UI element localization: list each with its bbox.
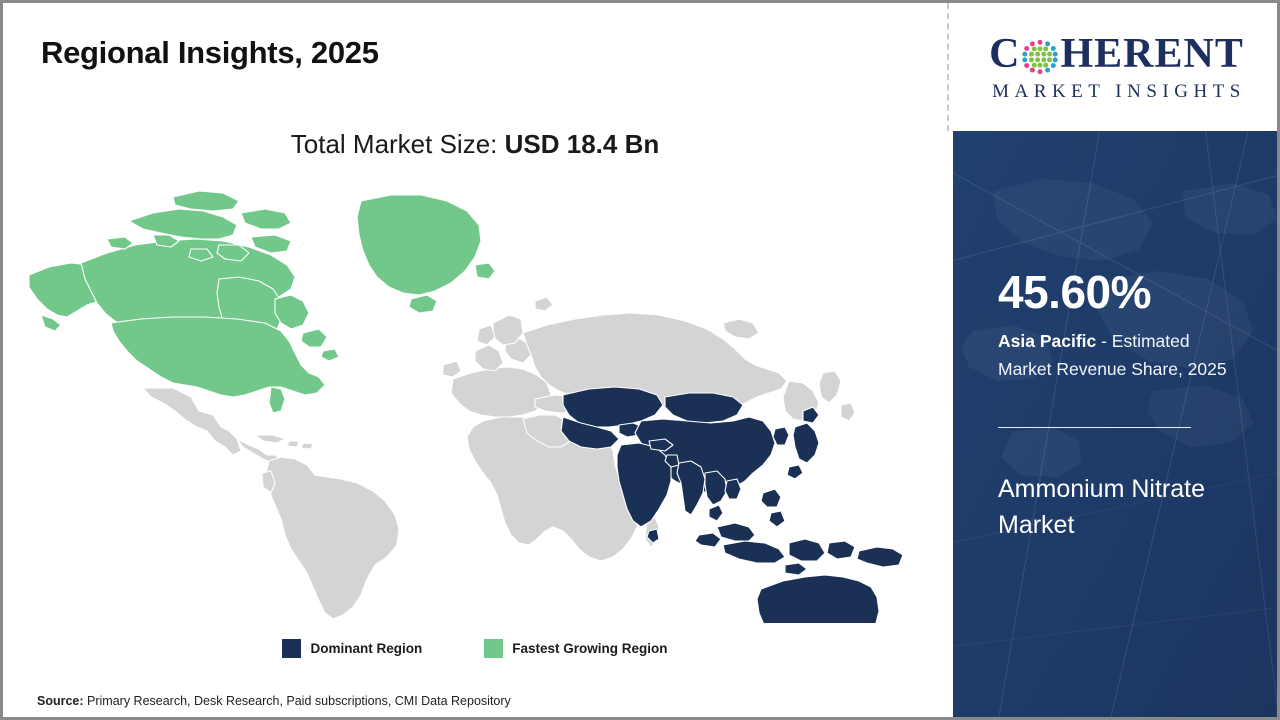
legend-label-dominant: Dominant Region: [310, 641, 422, 656]
share-value: 45.60%: [998, 269, 1151, 315]
map-region-north-america: [29, 191, 495, 413]
map-legend: Dominant Region Fastest Growing Region: [3, 639, 947, 658]
brand-logo: C: [953, 3, 1280, 131]
world-map-svg: [23, 183, 923, 623]
share-description: Asia Pacific - Estimated Market Revenue …: [998, 327, 1233, 383]
logo-word-herent: HERENT: [1060, 33, 1243, 75]
total-market-size-value: USD 18.4 Bn: [505, 129, 660, 159]
total-market-size: Total Market Size: USD 18.4 Bn: [3, 129, 947, 160]
world-map: [23, 183, 923, 623]
legend-item-fastest-growing: Fastest Growing Region: [484, 639, 667, 658]
logo-letter-c: C: [989, 33, 1020, 75]
legend-label-fastest-growing: Fastest Growing Region: [512, 641, 667, 656]
source-text: Primary Research, Desk Research, Paid su…: [84, 694, 511, 708]
share-region-name: Asia Pacific: [998, 331, 1096, 351]
left-panel: Regional Insights, 2025 Total Market Siz…: [3, 3, 947, 717]
slide-root: Regional Insights, 2025 Total Market Siz…: [0, 0, 1280, 720]
logo-tagline: MARKET INSIGHTS: [987, 82, 1246, 101]
vertical-divider: [947, 3, 949, 131]
info-panel-content: 45.60% Asia Pacific - Estimated Market R…: [998, 131, 1248, 717]
right-column: C: [953, 3, 1280, 717]
globe-dots-icon: [1021, 38, 1059, 76]
market-name: Ammonium Nitrate Market: [998, 471, 1238, 544]
legend-swatch-dominant: [282, 639, 301, 658]
legend-swatch-fastest-growing: [484, 639, 503, 658]
source-label: Source:: [37, 694, 84, 708]
logo-wordmark: C: [989, 33, 1244, 75]
source-note: Source: Primary Research, Desk Research,…: [37, 694, 511, 708]
legend-item-dominant: Dominant Region: [282, 639, 422, 658]
info-panel: 45.60% Asia Pacific - Estimated Market R…: [953, 131, 1280, 717]
page-title: Regional Insights, 2025: [41, 35, 379, 71]
panel-divider-rule: [998, 427, 1191, 428]
total-market-size-label: Total Market Size:: [291, 129, 505, 159]
